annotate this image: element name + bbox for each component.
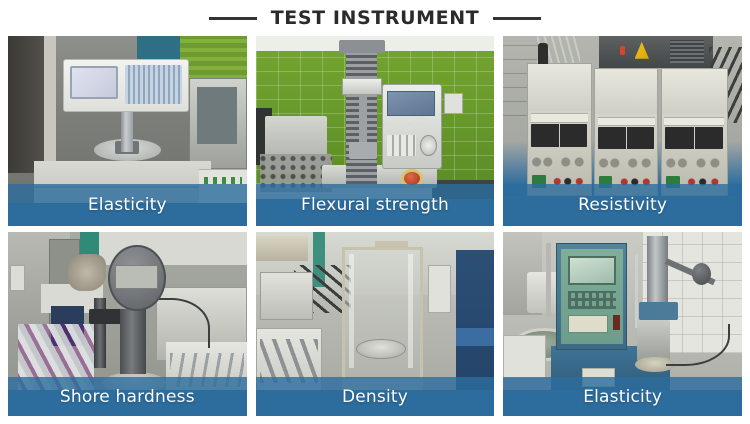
title-rule-right — [493, 17, 541, 20]
machine-keypad — [568, 291, 616, 309]
instrument-gallery-grid: Elasticity Flexural st — [8, 36, 742, 416]
page-title: TEST INSTRUMENT — [271, 7, 480, 29]
machine-keypad — [125, 65, 182, 105]
tile-caption: Flexural strength — [256, 184, 495, 226]
machine-dial — [420, 135, 437, 156]
machine-lcd-screen — [387, 91, 435, 116]
machine-lcd-screen — [568, 256, 616, 285]
power-supply-unit — [594, 68, 658, 195]
tile-caption: Shore hardness — [8, 377, 247, 416]
title-rule-left — [209, 17, 257, 20]
balance-weighing-pan — [356, 339, 406, 359]
power-supply-unit — [527, 63, 591, 196]
tile-caption: Density — [256, 377, 495, 416]
gallery-tile-flexural-strength[interactable]: Flexural strength — [256, 36, 495, 226]
gallery-tile-density[interactable]: Density — [256, 232, 495, 416]
tile-caption: Resistivity — [503, 184, 742, 226]
machine-keypad — [387, 135, 416, 156]
gallery-tile-shore-hardness[interactable]: Shore hardness — [8, 232, 247, 416]
power-supply-unit — [661, 68, 728, 195]
gallery-tile-elasticity-rebound[interactable]: Elasticity — [503, 232, 742, 416]
gallery-tile-elasticity-compression[interactable]: Elasticity — [8, 36, 247, 226]
gallery-tile-resistivity[interactable]: Resistivity — [503, 36, 742, 226]
machine-lcd-screen — [70, 66, 118, 98]
tile-caption: Elasticity — [8, 184, 247, 226]
page-header: TEST INSTRUMENT — [0, 0, 750, 36]
tile-caption: Elasticity — [503, 377, 742, 416]
